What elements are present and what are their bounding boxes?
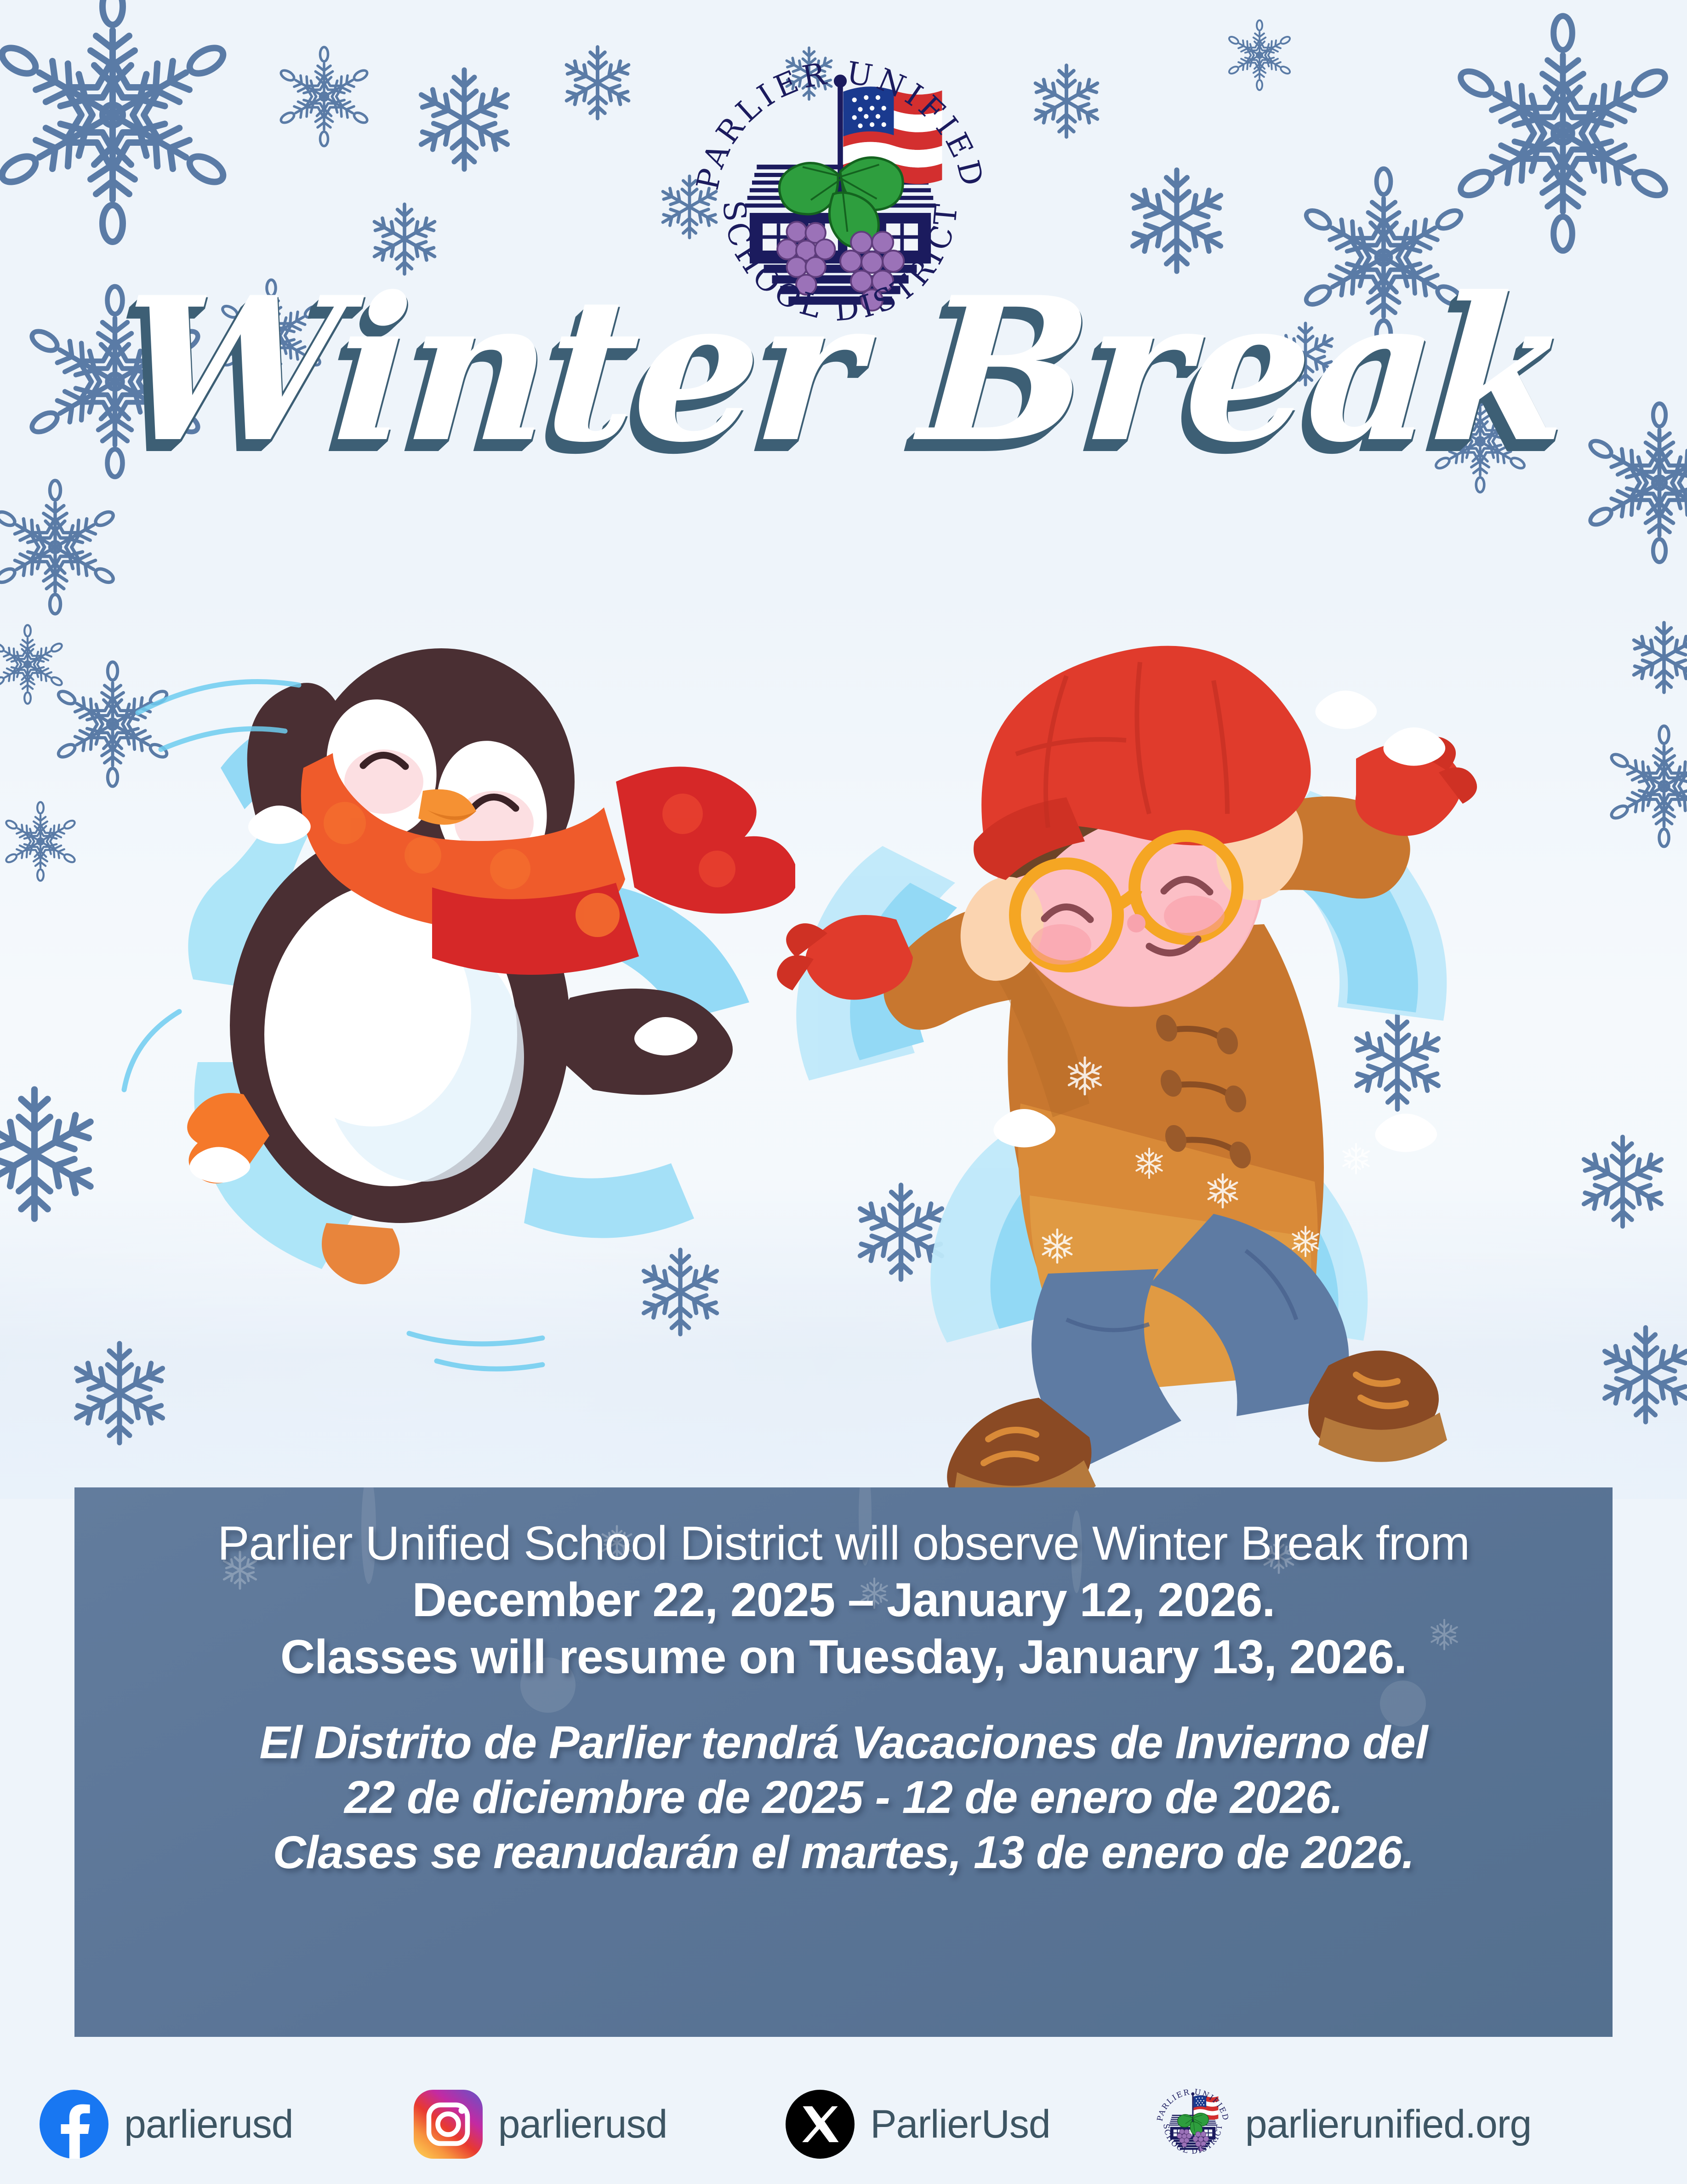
social-link-facebook[interactable]: parlierusd [40,2090,293,2159]
message-spanish-line-1: El Distrito de Parlier tendrá Vacaciones… [107,1715,1580,1770]
message-english-line-2: December 22, 2025 – January 12, 2026. [107,1572,1580,1629]
snowflake-decoration-layer-mid [0,612,1687,1485]
social-link-x[interactable]: ParlierUsd [786,2090,1050,2159]
message-spanish-line-3: Clases se reanudarán el martes, 13 de en… [107,1825,1580,1880]
district-seal-header: PARLIER UNIFIED SCHOOL DISTRICT [693,55,987,349]
instagram-icon[interactable] [414,2090,483,2159]
website-url[interactable]: parlierunified.org [1245,2102,1532,2147]
message-spanish-line-2: 22 de diciembre de 2025 - 12 de enero de… [107,1770,1580,1825]
social-footer: parlierusd parlierusd [0,2064,1687,2184]
snow-ground-shade [0,1177,1687,1499]
social-link-website[interactable]: PARLIER UNIFIED SCHOOL DISTRICT parlieru… [1156,2087,1532,2161]
message-english-line-1: Parlier Unified School District will obs… [107,1516,1580,1572]
facebook-handle[interactable]: parlierusd [124,2102,293,2147]
facebook-icon[interactable] [40,2090,108,2159]
penguin-illustration [106,630,795,1412]
penguin-snow-angel [188,708,749,1269]
x-handle[interactable]: ParlierUsd [870,2102,1050,2147]
x-twitter-icon[interactable] [786,2090,855,2159]
instagram-handle[interactable]: parlierusd [498,2102,667,2147]
social-link-instagram[interactable]: parlierusd [414,2090,667,2159]
winter-break-poster: PARLIER UNIFIED SCHOOL DISTRICT Winter B… [0,0,1687,2184]
snow-ground [0,575,1687,1499]
message-english-line-3: Classes will resume on Tuesday, January … [107,1629,1580,1686]
announcement-panel: Parlier Unified School District will obs… [74,1487,1613,2037]
child-illustration [745,616,1526,1490]
message-spacer [107,1686,1580,1715]
child-snow-angel [796,791,1447,1343]
district-seal-icon[interactable]: PARLIER UNIFIED SCHOOL DISTRICT [1156,2087,1230,2161]
